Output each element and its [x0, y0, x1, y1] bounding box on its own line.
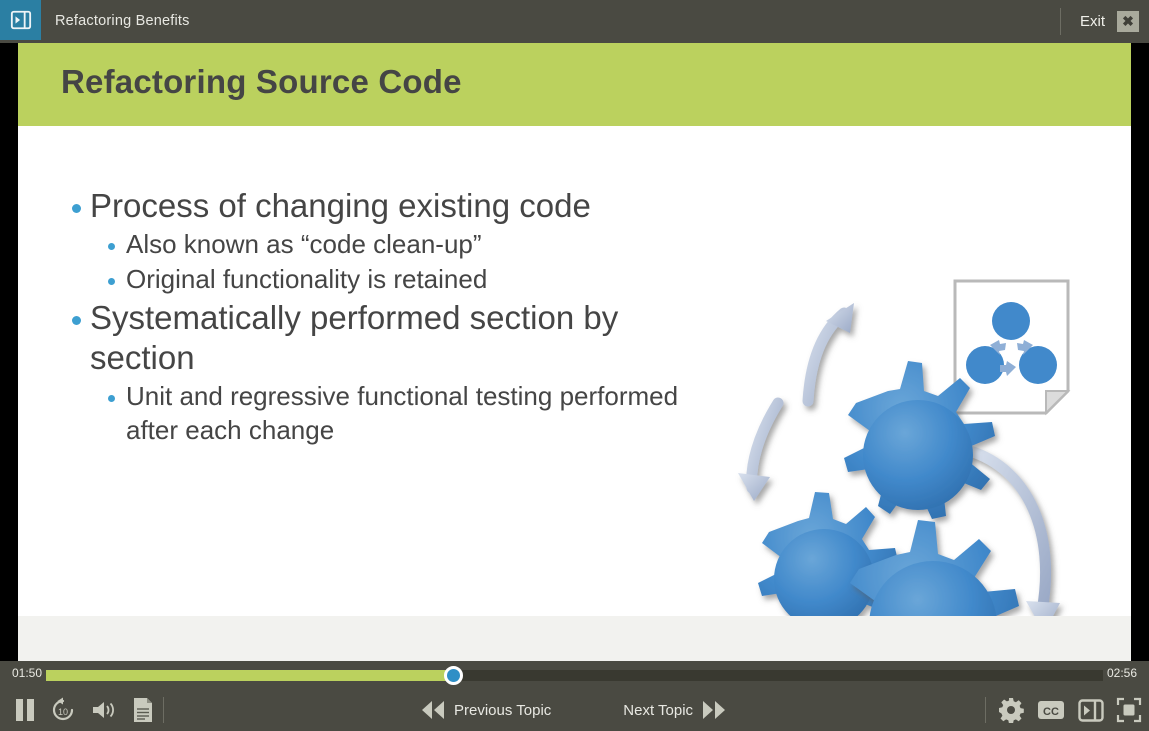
transcript-icon[interactable] — [126, 693, 160, 727]
slide-title-band: Refactoring Source Code — [18, 43, 1131, 126]
player-header: Refactoring Benefits Exit ✖ — [0, 0, 1149, 43]
controls-divider-right — [985, 697, 986, 723]
previous-topic-button[interactable]: Previous Topic — [454, 702, 551, 719]
list-item: Unit and regressive functional testing p… — [58, 380, 718, 448]
document-icon — [955, 281, 1068, 413]
fullscreen-icon[interactable] — [1112, 693, 1146, 727]
pause-icon[interactable] — [8, 693, 42, 727]
elapsed-time: 01:50 — [12, 666, 42, 680]
total-time: 02:56 — [1107, 666, 1137, 680]
bullet-list: Process of changing existing code Also k… — [58, 186, 718, 449]
player-controls: 01:50 02:56 10 — [0, 661, 1149, 731]
slide-stage: Refactoring Source Code Process of chang… — [18, 43, 1131, 661]
list-item: Also known as “code clean-up” — [58, 228, 718, 262]
elearning-player: Refactoring Benefits Exit ✖ Refactoring … — [0, 0, 1149, 731]
slide-body: Process of changing existing code Also k… — [18, 126, 1131, 616]
sidebar-expand-glyph — [10, 9, 32, 31]
prev-double-arrow-icon[interactable] — [420, 699, 446, 721]
sidebar-toggle-icon[interactable] — [1074, 693, 1108, 727]
slide-footer-strip — [18, 616, 1131, 661]
sidebar-expand-icon[interactable] — [0, 0, 41, 40]
next-double-arrow-icon[interactable] — [701, 699, 727, 721]
exit-button[interactable]: Exit — [1080, 0, 1105, 43]
gear-icon[interactable] — [994, 693, 1028, 727]
next-topic-button[interactable]: Next Topic — [623, 702, 693, 719]
page-title: Refactoring Benefits — [55, 0, 190, 43]
list-item: Systematically performed section by sect… — [58, 298, 718, 379]
cc-icon[interactable]: CC — [1034, 693, 1068, 727]
svg-text:10: 10 — [58, 707, 68, 717]
replay-10-icon[interactable]: 10 — [46, 693, 80, 727]
gears-svg — [708, 273, 1108, 673]
scrubber-handle[interactable] — [444, 666, 463, 685]
progress-fill — [46, 670, 453, 681]
progress-scrubber[interactable] — [46, 670, 1103, 681]
slide-title: Refactoring Source Code — [61, 63, 462, 101]
button-row: 10 — [0, 689, 1149, 731]
svg-text:CC: CC — [1043, 706, 1059, 718]
header-divider — [1060, 8, 1061, 35]
list-item: Original functionality is retained — [58, 263, 718, 297]
controls-divider-left — [163, 697, 164, 723]
seek-row: 01:50 02:56 — [0, 661, 1149, 689]
volume-icon[interactable] — [86, 693, 120, 727]
topic-navigation: Previous Topic Next Topic — [420, 689, 727, 731]
gears-illustration — [708, 273, 1108, 673]
list-item: Process of changing existing code — [58, 186, 718, 226]
close-icon[interactable]: ✖ — [1117, 11, 1139, 32]
